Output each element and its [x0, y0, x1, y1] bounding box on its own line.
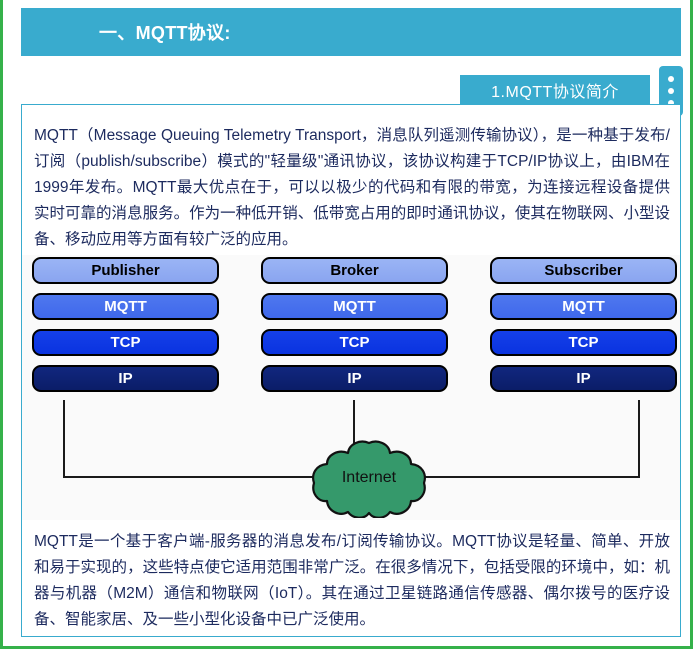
node-publisher-tcp: TCP: [32, 329, 219, 356]
stack-broker: Broker MQTT TCP IP: [261, 257, 448, 392]
content-panel: MQTT（Message Queuing Telemetry Transport…: [21, 104, 681, 637]
page-title: 一、MQTT协议:: [99, 19, 231, 45]
node-subscriber: Subscriber: [490, 257, 677, 284]
dot-1: [668, 76, 674, 82]
node-subscriber-mqtt: MQTT: [490, 293, 677, 320]
node-publisher-mqtt: MQTT: [32, 293, 219, 320]
section-tab-badge[interactable]: 1.MQTT协议简介: [460, 75, 650, 105]
node-broker: Broker: [261, 257, 448, 284]
stack-publisher: Publisher MQTT TCP IP: [32, 257, 219, 392]
page-frame: 一、MQTT协议: 1.MQTT协议简介 MQTT（Message Queuin…: [0, 0, 693, 649]
node-broker-mqtt: MQTT: [261, 293, 448, 320]
node-publisher: Publisher: [32, 257, 219, 284]
section-tab-label: 1.MQTT协议简介: [491, 78, 619, 102]
wire-subscriber-to-cloud: [425, 476, 640, 478]
header-banner: 一、MQTT协议:: [21, 8, 681, 56]
internet-cloud-label: Internet: [310, 469, 428, 487]
summary-paragraph: MQTT是一个基于客户端-服务器的消息发布/订阅传输协议。MQTT协议是轻量、简…: [34, 529, 670, 633]
node-broker-ip: IP: [261, 365, 448, 392]
wire-publisher-down: [63, 400, 65, 478]
mqtt-architecture-diagram: Publisher MQTT TCP IP Broker MQTT TCP IP…: [22, 255, 680, 520]
node-subscriber-tcp: TCP: [490, 329, 677, 356]
wire-publisher-to-cloud: [63, 476, 313, 478]
node-subscriber-ip: IP: [490, 365, 677, 392]
node-publisher-ip: IP: [32, 365, 219, 392]
node-broker-tcp: TCP: [261, 329, 448, 356]
stack-subscriber: Subscriber MQTT TCP IP: [490, 257, 677, 392]
wire-subscriber-down: [638, 400, 640, 478]
intro-paragraph: MQTT（Message Queuing Telemetry Transport…: [34, 123, 670, 253]
dot-2: [668, 88, 674, 94]
internet-cloud: Internet: [310, 440, 428, 518]
